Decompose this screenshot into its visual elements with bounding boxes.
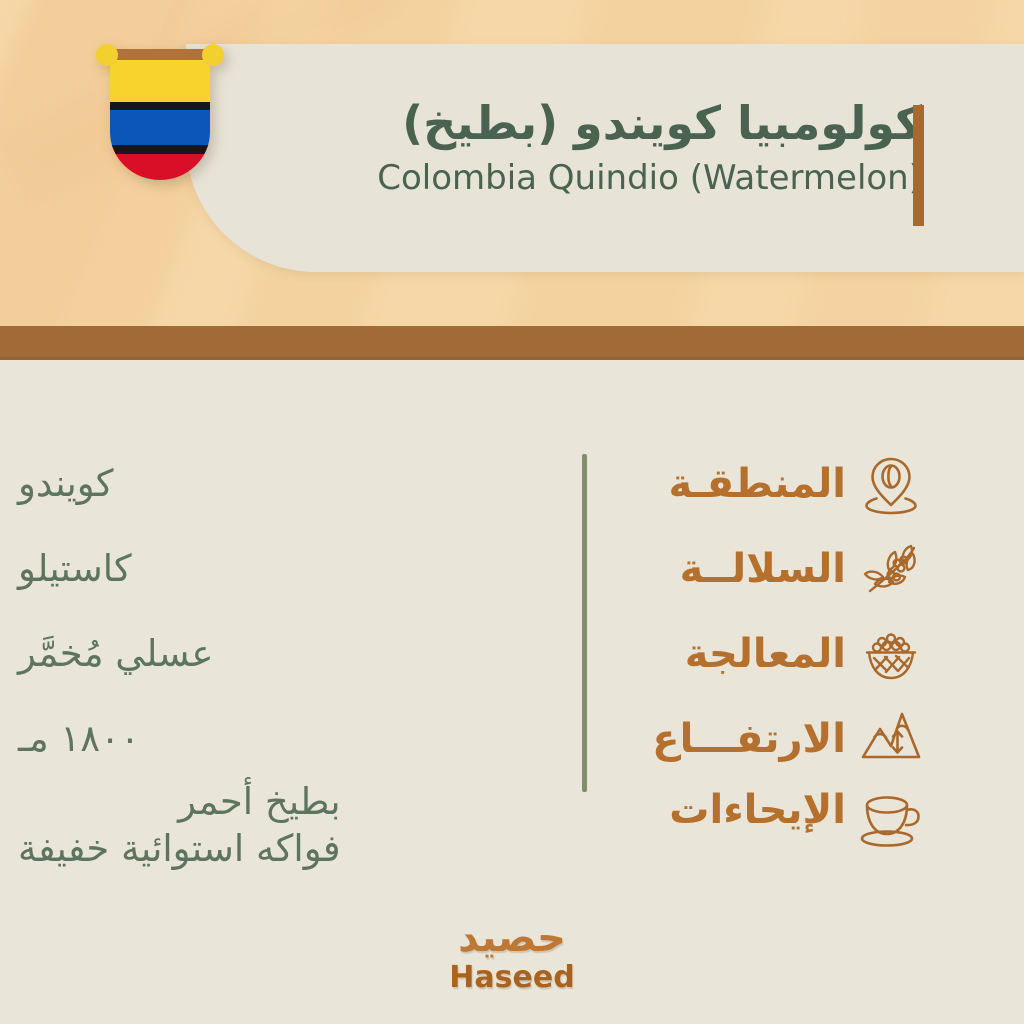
- title-block: كولومبيا كويندو (بطيخ) Colombia Quindio …: [302, 92, 922, 198]
- info-label: الارتفـــاع: [652, 719, 846, 759]
- colombia-flag-banner-icon: [92, 40, 228, 192]
- info-value: كاستيلو: [18, 545, 132, 592]
- info-label: السلالــة: [680, 549, 846, 589]
- brand-logo-latin: Haseed: [0, 963, 1024, 993]
- info-value: كويندو: [18, 460, 113, 507]
- label-notes: الإيحاءات: [616, 778, 846, 842]
- label-region: المنطقـة: [616, 444, 846, 524]
- mountain-altitude-arrow-icon: [845, 699, 937, 779]
- info-label: المنطقـة: [668, 464, 846, 504]
- coffee-cup-saucer-icon: [845, 782, 937, 862]
- info-value-line-2: فواكه استوائية خفيفة: [18, 827, 341, 870]
- page-title-arabic: كولومبيا كويندو (بطيخ): [302, 92, 922, 154]
- coffee-product-card: كولومبيا كويندو (بطيخ) Colombia Quindio …: [0, 0, 1024, 1024]
- info-section: المنطقـة كويندو: [0, 430, 1024, 830]
- label-processing: المعالجة: [616, 614, 846, 694]
- info-value: عسلي مُخمَّر: [18, 630, 213, 677]
- info-value-line-1: بطيخ أحمر: [178, 780, 340, 823]
- coffee-cherry-basket-icon: [845, 614, 937, 694]
- page-title-english: Colombia Quindio (Watermelon): [302, 158, 922, 198]
- brand-logo-arabic: حصيد: [0, 918, 1024, 958]
- coffee-branch-leaves-icon: [845, 529, 937, 609]
- label-altitude: الارتفـــاع: [616, 699, 846, 779]
- info-row-processing: المعالجة عسلي مُخمَّر: [0, 614, 1024, 694]
- info-label: الإيحاءات: [669, 790, 846, 830]
- info-row-variety: السلالــة كاستيلو: [0, 529, 1024, 609]
- label-variety: السلالــة: [616, 529, 846, 609]
- location-pin-coffee-bean-icon: [845, 444, 937, 524]
- info-row-altitude: الارتفـــاع ١٨٠٠ مـ: [0, 699, 1024, 779]
- info-row-notes: الإيحاءات بطيخ أحمر فواكه استوائية خفيفة: [0, 778, 1024, 870]
- value-altitude: ١٨٠٠ مـ: [0, 699, 556, 779]
- brand-logo: حصيد Haseed: [0, 918, 1024, 993]
- info-row-region: المنطقـة كويندو: [0, 444, 1024, 524]
- value-notes: بطيخ أحمر فواكه استوائية خفيفة: [0, 778, 556, 873]
- brown-divider-band: [0, 326, 1024, 360]
- info-label: المعالجة: [685, 634, 846, 674]
- value-variety: كاستيلو: [0, 529, 556, 609]
- value-processing: عسلي مُخمَّر: [0, 614, 556, 694]
- value-region: كويندو: [0, 444, 556, 524]
- title-accent-bar: [913, 105, 924, 226]
- info-value: بطيخ أحمر فواكه استوائية خفيفة: [18, 778, 341, 873]
- info-value: ١٨٠٠ مـ: [18, 715, 140, 762]
